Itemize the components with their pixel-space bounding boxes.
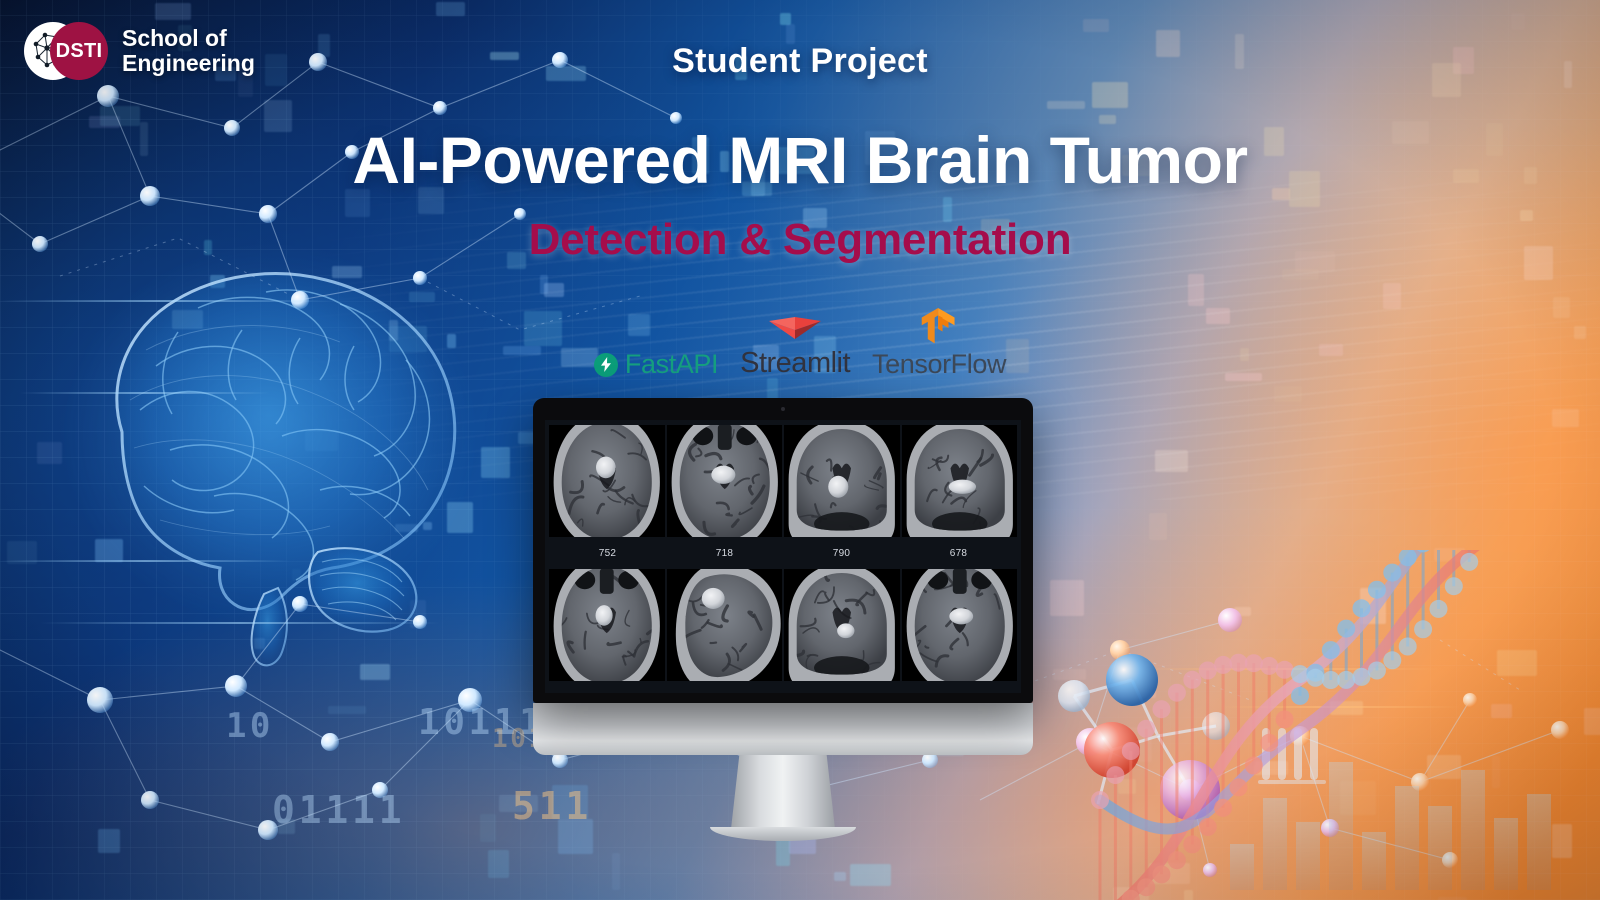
data-bar-2 [20, 392, 270, 394]
mri-row [549, 569, 1017, 681]
mri-label: 752 [549, 548, 666, 559]
kicker-label: Student Project [0, 42, 1600, 81]
monitor: 752718790678 [533, 398, 1033, 841]
fastapi-bolt-icon [594, 353, 618, 377]
tech-item-fastapi: FastAPI [594, 308, 718, 380]
monitor-stand-neck [731, 755, 835, 829]
brain-hologram [10, 200, 530, 670]
mri-slice-axial[interactable] [549, 425, 665, 537]
tech-item-streamlit: Streamlit [740, 308, 850, 380]
bolt-glyph [600, 357, 612, 372]
page-subtitle: Detection & Segmentation [0, 215, 1600, 265]
data-bar-3 [0, 560, 290, 562]
mri-label-row: 752718790678 [549, 543, 1017, 563]
mri-slice-axial[interactable] [902, 569, 1018, 681]
tensorflow-label: TensorFlow [872, 349, 1006, 380]
dna-helix-icon [1090, 550, 1600, 900]
monitor-bezel: 752718790678 [533, 398, 1033, 703]
binary-fragment-3: 01111 [272, 788, 405, 832]
tech-item-tensorflow: TensorFlow [872, 308, 1006, 380]
mri-slice-axial[interactable] [549, 569, 665, 681]
tech-stack-row: FastAPI Streamlit TensorFlow [0, 308, 1600, 380]
binary-fragment-1: 10 [226, 706, 274, 746]
mri-slice-coronal[interactable] [784, 569, 900, 681]
streamlit-label: Streamlit [740, 347, 850, 380]
mri-slice-coronal[interactable] [784, 425, 900, 537]
mri-slice-coronal[interactable] [902, 425, 1018, 537]
tensorflow-tf-icon [919, 308, 959, 346]
streamlit-crown-icon [767, 317, 823, 343]
data-bar-4 [40, 622, 440, 624]
mri-slice-sagittal[interactable] [667, 569, 783, 681]
data-bar-1 [0, 300, 330, 302]
monitor-screen[interactable]: 752718790678 [545, 420, 1021, 693]
mri-slice-axial[interactable] [667, 425, 783, 537]
mri-label: 718 [666, 548, 783, 559]
page-title: AI-Powered MRI Brain Tumor [0, 122, 1600, 198]
monitor-stand-foot [710, 827, 856, 841]
mri-label: 790 [783, 548, 900, 559]
mri-label: 678 [900, 548, 1017, 559]
webcam-icon [781, 407, 785, 411]
poster-canvas: 10 10111 01111 511 10111 [0, 0, 1600, 900]
monitor-chin [533, 703, 1033, 755]
fastapi-label: FastAPI [625, 349, 718, 380]
mri-row [549, 425, 1017, 537]
